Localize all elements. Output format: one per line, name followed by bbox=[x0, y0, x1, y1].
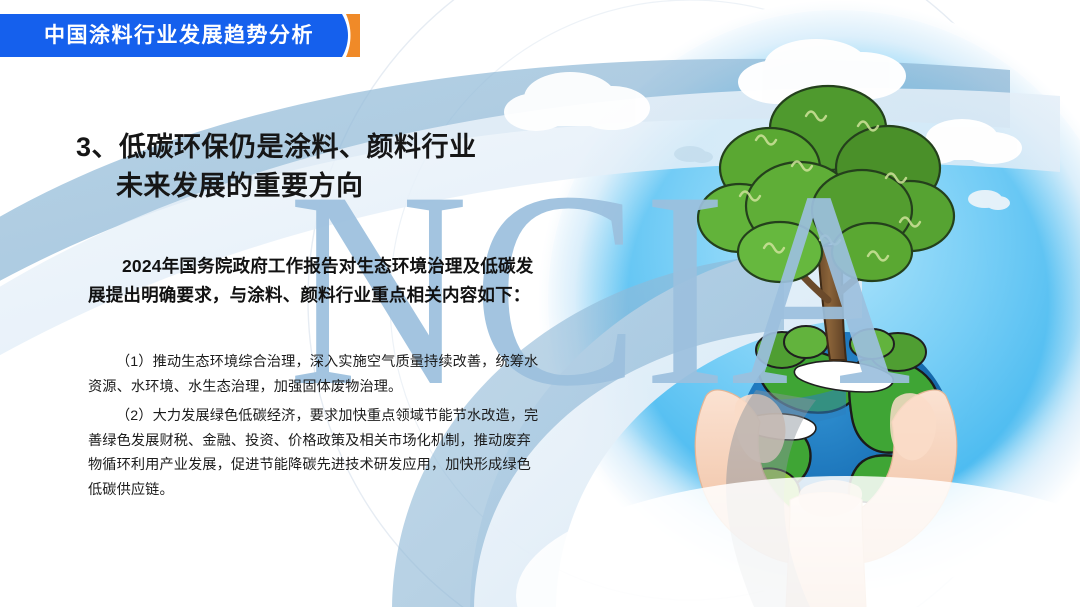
slide-root: NCIA 中国涂料行业发展趋势分析 3、低碳环保仍是涂料、颜料行业 未来发展的重… bbox=[0, 0, 1080, 607]
page-title-line1: 3、低碳环保仍是涂料、颜料行业 bbox=[76, 132, 477, 162]
body-paragraph-1: （1）推动生态环境综合治理，深入实施空气质量持续改善，统筹水资源、水环境、水生态… bbox=[88, 350, 540, 399]
lead-paragraph: 2024年国务院政府工作报告对生态环境治理及低碳发展提出明确要求，与涂料、颜料行… bbox=[88, 252, 540, 310]
page-title: 3、低碳环保仍是涂料、颜料行业 未来发展的重要方向 bbox=[76, 128, 546, 206]
body-paragraph-2: （2）大力发展绿色低碳经济，要求加快重点领域节能节水改造，完善绿色发展财税、金融… bbox=[88, 404, 540, 502]
page-title-line2: 未来发展的重要方向 bbox=[76, 167, 546, 206]
slide-content: 3、低碳环保仍是涂料、颜料行业 未来发展的重要方向 2024年国务院政府工作报告… bbox=[0, 0, 1080, 607]
